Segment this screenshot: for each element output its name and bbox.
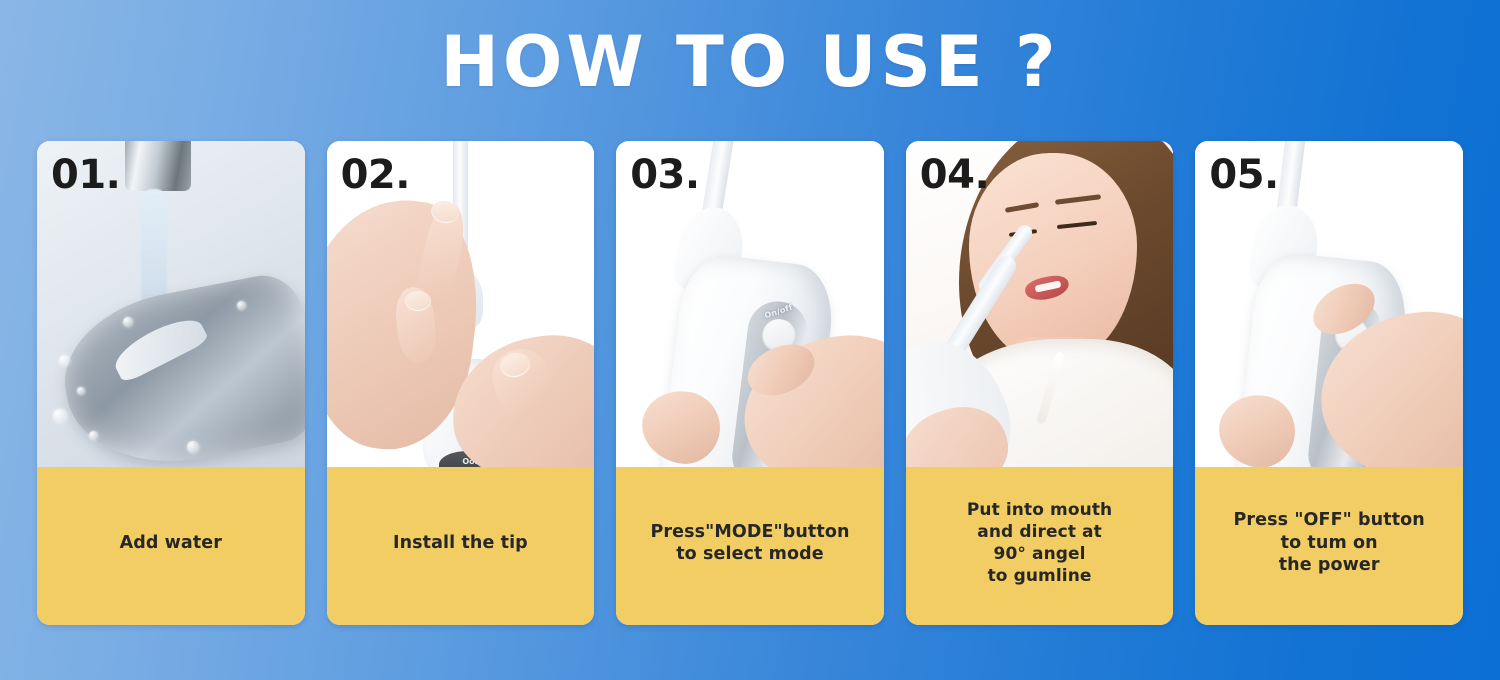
bubble-icon bbox=[187, 441, 199, 453]
steps-container: 01. Add water Oolor bbox=[37, 141, 1463, 625]
step-image-03: On/off Mode Normal Soft 03. bbox=[616, 141, 884, 467]
fingernail bbox=[405, 291, 431, 311]
caption-band-04: Put into mouth and direct at 90° angel t… bbox=[906, 467, 1174, 625]
step-card-03[interactable]: On/off Mode Normal Soft 03. Press"MODE"b… bbox=[616, 141, 884, 625]
step-caption-05: Press "OFF" button to tum on the power bbox=[1233, 509, 1424, 576]
step-caption-04: Put into mouth and direct at 90° angel t… bbox=[967, 499, 1112, 587]
bubble-icon bbox=[53, 409, 67, 423]
infographic-page: HOW TO USE ? 01. Add bbox=[0, 0, 1500, 680]
bubble-icon bbox=[123, 317, 133, 327]
step-card-05[interactable]: On/off Mode Normal Soft 05. Press "OFF" … bbox=[1195, 141, 1463, 625]
bubble-icon bbox=[59, 355, 70, 366]
caption-band-01: Add water bbox=[37, 467, 305, 625]
caption-band-02: Install the tip bbox=[327, 467, 595, 625]
caption-band-05: Press "OFF" button to tum on the power bbox=[1195, 467, 1463, 625]
step-image-05: On/off Mode Normal Soft 05. bbox=[1195, 141, 1463, 467]
caption-band-03: Press"MODE"button to select mode bbox=[616, 467, 884, 625]
step-card-04[interactable]: 04. Put into mouth and direct at 90° ang… bbox=[906, 141, 1174, 625]
step-number-04: 04. bbox=[920, 155, 989, 195]
step-card-02[interactable]: Oolor 02. Install the tip bbox=[327, 141, 595, 625]
bubble-icon bbox=[77, 387, 85, 395]
bubble-icon bbox=[237, 301, 246, 310]
faucet-icon bbox=[125, 141, 191, 191]
step-caption-01: Add water bbox=[120, 532, 222, 554]
page-title: HOW TO USE ? bbox=[0, 26, 1500, 100]
bubble-icon bbox=[89, 431, 98, 440]
step-image-01: 01. bbox=[37, 141, 305, 467]
face bbox=[969, 153, 1137, 363]
step-card-01[interactable]: 01. Add water bbox=[37, 141, 305, 625]
step-image-04: 04. bbox=[906, 141, 1174, 467]
step-number-05: 05. bbox=[1209, 155, 1278, 195]
step-number-02: 02. bbox=[341, 155, 410, 195]
step-image-02: Oolor 02. bbox=[327, 141, 595, 467]
step-number-03: 03. bbox=[630, 155, 699, 195]
step-number-01: 01. bbox=[51, 155, 120, 195]
step-caption-02: Install the tip bbox=[393, 532, 528, 554]
step-caption-03: Press"MODE"button to select mode bbox=[650, 521, 849, 566]
water-stream bbox=[141, 189, 167, 309]
